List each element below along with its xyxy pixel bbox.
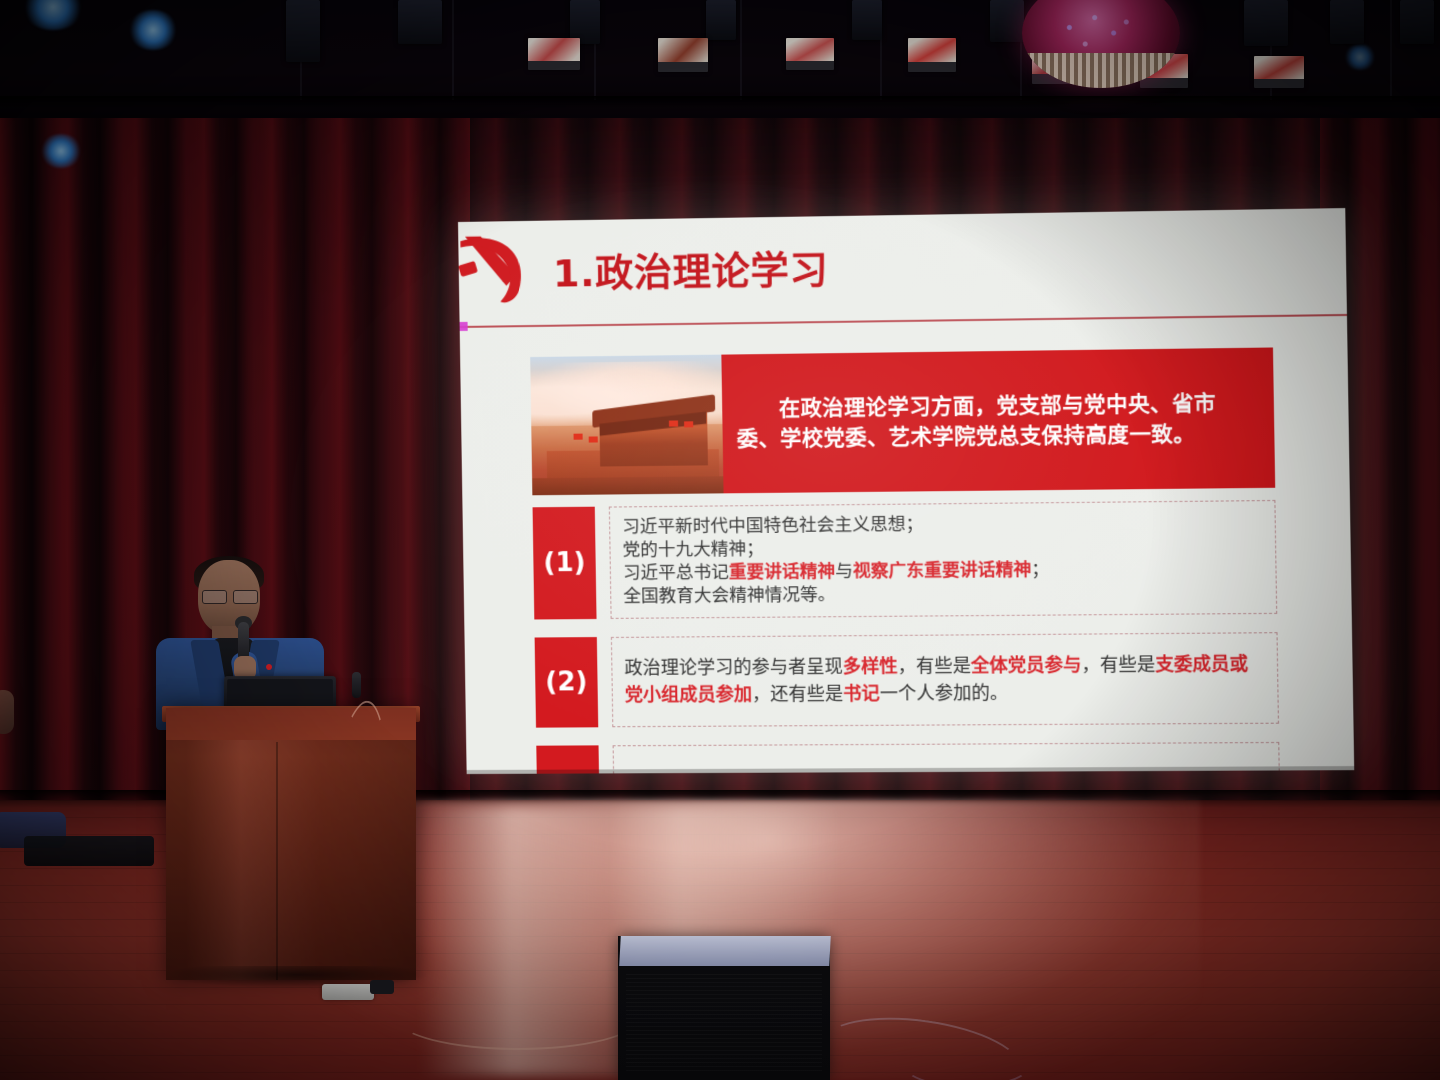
item-number-badge: (1) (533, 507, 597, 620)
stage-light-fixture (990, 0, 1024, 42)
stage-light-fixture (852, 0, 882, 40)
slide-banner: 在政治理论学习方面，党支部与党中央、省市委、学校党委、艺术学院党总支保持高度一致… (530, 347, 1275, 495)
banner-text: 在政治理论学习方面，党支部与党中央、省市委、学校党委、艺术学院党总支保持高度一致… (736, 387, 1256, 455)
presentation-slide: 1.政治理论学习 在政治理 (458, 208, 1354, 774)
stage-light-fixture (286, 0, 320, 62)
tiananmen-gate-photo (530, 355, 723, 496)
eyeglasses-icon (202, 590, 258, 602)
stage-light-fixture (1244, 0, 1288, 46)
party-lapel-pin (266, 664, 272, 670)
light-panel (658, 38, 708, 72)
microphone-stand (352, 672, 361, 698)
light-panel (786, 38, 834, 70)
stage-light-fixture (398, 0, 442, 44)
light-panel (528, 38, 580, 70)
banner-text-block: 在政治理论学习方面，党支部与党中央、省市委、学校党委、艺术学院党总支保持高度一致… (721, 347, 1275, 493)
item-body: 政治理论学习的参与者呈现多样性，有些是全体党员参与，有些是支委成员或党小组成员参… (611, 632, 1279, 727)
slide-item-1: (1) 习近平新时代中国特色社会主义思想； 党的十九大精神； 习近平总书记重要讲… (533, 500, 1278, 619)
item-number-badge: (2) (535, 637, 599, 728)
stage-light-fixture (1330, 0, 1364, 44)
slide-header: 1.政治理论学习 (458, 208, 1347, 326)
blue-spotlight-beam (40, 134, 82, 168)
stage-light-fixture (706, 0, 736, 40)
projection-screen: 1.政治理论学习 在政治理 (458, 208, 1354, 774)
slide-title: 1.政治理论学习 (552, 238, 828, 297)
slide-item-2: (2) 政治理论学习的参与者呈现多样性，有些是全体党员参与，有些是支委成员或党小… (535, 632, 1279, 727)
equipment-case (24, 836, 154, 866)
header-divider (460, 314, 1347, 328)
power-plug (370, 980, 394, 994)
blue-spotlight-beam (22, 0, 84, 30)
mirror-ball (1022, 0, 1180, 88)
blue-spotlight-beam (128, 10, 178, 50)
item-body: 习近平新时代中国特色社会主义思想； 党的十九大精神； 习近平总书记重要讲话精神与… (609, 500, 1277, 619)
audience-member-arm (0, 690, 14, 734)
auditorium-scene: 1.政治理论学习 在政治理 (0, 0, 1440, 1080)
cable (396, 986, 640, 1050)
light-panel (1254, 56, 1304, 88)
power-strip (322, 984, 374, 1000)
cable (900, 1034, 1034, 1080)
edge-artifact (460, 322, 468, 331)
stage-floor-monitor-top (619, 936, 831, 966)
light-panel (908, 38, 956, 72)
stage-light-fixture (1400, 0, 1434, 44)
blue-spotlight-beam (1344, 44, 1376, 70)
item-line: 全国教育大会精神情况等。 (623, 581, 1263, 609)
item-paragraph: 政治理论学习的参与者呈现多样性，有些是全体党员参与，有些是支委成员或党小组成员参… (624, 651, 1265, 710)
proscenium-shadow (0, 96, 1440, 108)
ccp-hammer-sickle-emblem-icon (458, 231, 539, 310)
